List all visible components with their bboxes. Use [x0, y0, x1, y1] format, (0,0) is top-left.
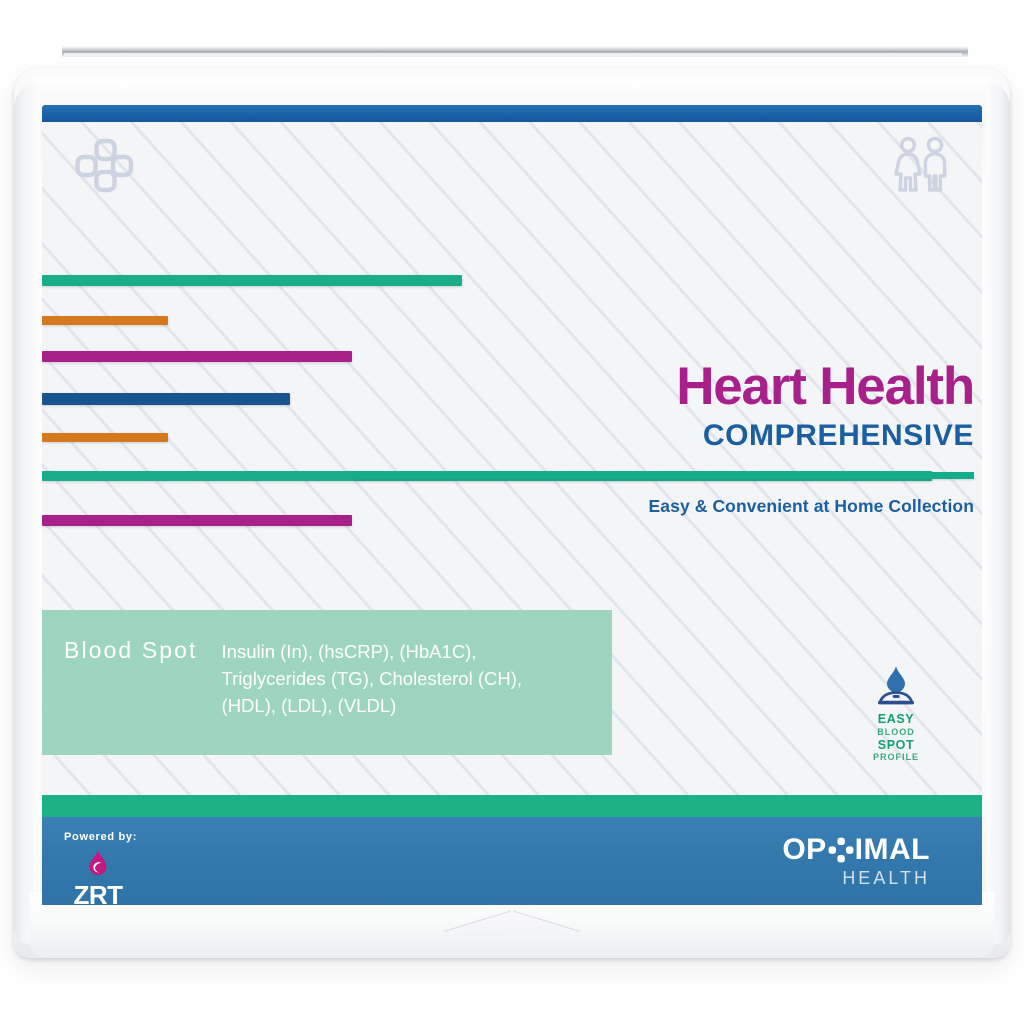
box-lid-hinge-strip [62, 46, 968, 57]
product-title-block: Heart Health COMPREHENSIVE Easy & Conven… [354, 360, 974, 517]
accent-bar [42, 275, 462, 286]
badge-line-4: PROFILE [865, 753, 927, 762]
page-title: Heart Health [354, 360, 974, 414]
blood-drop-icon [865, 665, 927, 712]
clover-cross-icon [828, 837, 854, 863]
zrt-droplet-icon [70, 849, 126, 884]
accent-bar [42, 515, 352, 526]
accent-bar [42, 433, 168, 442]
accent-bar [42, 351, 352, 362]
test-kit-box: Heart Health COMPREHENSIVE Easy & Conven… [0, 0, 1024, 1024]
brand-text-part1: OP [782, 835, 826, 865]
accent-bar [42, 316, 168, 325]
badge-line-2: BLOOD [865, 728, 927, 737]
sample-type-label: Blood Spot [64, 638, 198, 662]
shell-top-highlight [24, 76, 1000, 102]
product-subtitle: COMPREHENSIVE [354, 420, 974, 452]
product-tagline: Easy & Convenient at Home Collection [354, 496, 974, 517]
brand-subtext: HEALTH [782, 868, 930, 889]
status-badge: EASY BLOOD SPOT PROFILE [865, 665, 927, 762]
accent-bar [42, 393, 290, 405]
shell-left-edge [14, 82, 40, 944]
blood-spot-panel: Blood Spot Insulin (In), (hsCRP), (HbA1C… [42, 610, 612, 755]
badge-line-3: SPOT [865, 739, 927, 752]
product-label-face: Heart Health COMPREHENSIVE Easy & Conven… [42, 105, 982, 905]
title-divider-rule [354, 472, 974, 479]
analyte-list: Insulin (In), (hsCRP), (HbA1C), Triglyce… [222, 638, 552, 720]
badge-line-1: EASY [865, 713, 927, 726]
brand-text-part2: IMAL [855, 835, 930, 865]
optimal-health-logo: OP IMAL HEALTH [782, 835, 930, 889]
zrt-logo: ZRT [70, 849, 126, 905]
powered-by-label: Powered by: [64, 831, 137, 843]
footer-teal-band [42, 795, 982, 817]
shell-right-edge [986, 82, 1010, 944]
footer-blue-band: Powered by: ZRT OP [42, 817, 982, 905]
zrt-wordmark: ZRT [70, 882, 126, 905]
